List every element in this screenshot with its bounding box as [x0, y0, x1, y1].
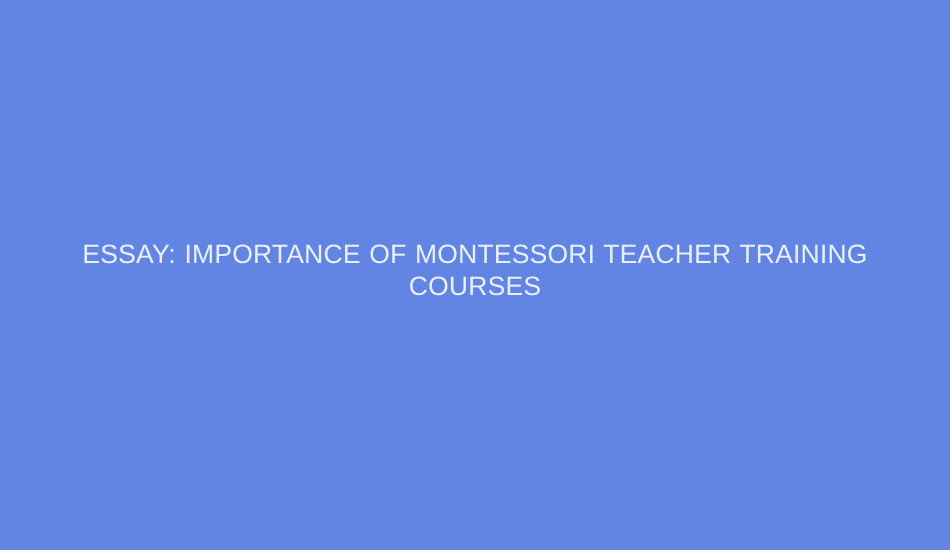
- banner-text-block: ESSAY: IMPORTANCE OF MONTESSORI TEACHER …: [70, 238, 880, 302]
- page-title: ESSAY: IMPORTANCE OF MONTESSORI TEACHER …: [70, 238, 880, 302]
- title-banner: ESSAY: IMPORTANCE OF MONTESSORI TEACHER …: [0, 0, 950, 550]
